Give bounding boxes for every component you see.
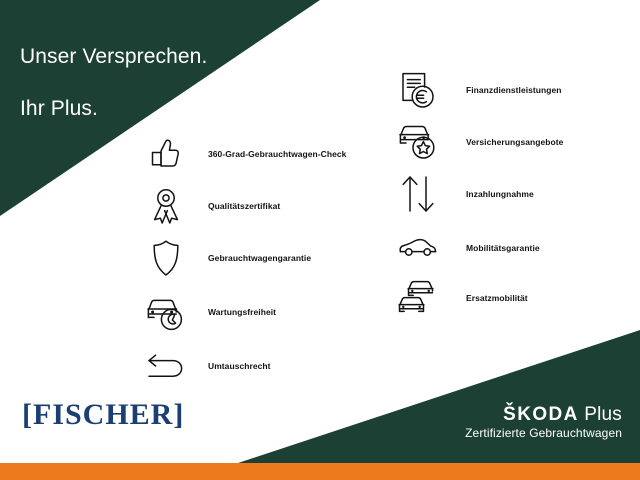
return-arrow-icon	[140, 343, 192, 389]
promo-graphic: Unser Versprechen. Ihr Plus. 360-Grad-Ge…	[0, 0, 640, 480]
feature-item: Mobilitätsgarantie	[392, 222, 632, 274]
feature-item: Inzahlungnahme	[392, 168, 632, 220]
brand-plus: Plus	[579, 404, 622, 425]
feature-item: Wartungsfreiheit	[140, 286, 380, 338]
feature-label: Umtauschrecht	[208, 361, 271, 371]
dealer-logo: [FISCHER]	[22, 400, 184, 430]
feature-item: Ersatzmobilität	[392, 272, 632, 324]
feature-label: Finanzdienstleistungen	[466, 85, 562, 95]
feature-item: Finanzdienstleistungen	[392, 64, 632, 116]
feature-item: Umtauschrecht	[140, 340, 380, 392]
thumbs-up-icon	[140, 131, 192, 177]
feature-label: 360-Grad-Gebrauchtwagen-Check	[208, 149, 346, 159]
feature-label: Mobilitätsgarantie	[466, 243, 540, 253]
brand-name-row: ŠKODA Plus	[465, 404, 622, 425]
page-title-line1: Unser Versprechen.	[20, 44, 207, 70]
up-down-arrows-icon	[392, 171, 444, 217]
feature-item: Versicherungsangebote	[392, 116, 632, 168]
car-star-icon	[392, 119, 444, 165]
feature-label: Ersatzmobilität	[466, 293, 528, 303]
car-side-icon	[392, 225, 444, 271]
orange-accent-bar	[0, 463, 640, 480]
two-cars-icon	[392, 275, 444, 321]
feature-item: Qualitätszertifikat	[140, 180, 380, 232]
document-euro-icon	[392, 67, 444, 113]
feature-label: Inzahlungnahme	[466, 189, 534, 199]
quality-seal-icon	[140, 183, 192, 229]
feature-label: Wartungsfreiheit	[208, 307, 276, 317]
feature-item: Gebrauchtwagengarantie	[140, 232, 380, 284]
brand-tagline: Zertifizierte Gebrauchtwagen	[465, 426, 622, 441]
feature-label: Qualitätszertifikat	[208, 201, 280, 211]
feature-label: Versicherungsangebote	[466, 137, 563, 147]
feature-item: 360-Grad-Gebrauchtwagen-Check	[140, 128, 380, 180]
feature-list-right: Finanzdienstleistungen Versicherungsange…	[392, 64, 632, 324]
brand-mark: ŠKODA	[503, 404, 579, 425]
feature-list-left: 360-Grad-Gebrauchtwagen-Check Qualitätsz…	[140, 128, 380, 392]
car-wrench-icon	[140, 289, 192, 335]
feature-label: Gebrauchtwagengarantie	[208, 253, 311, 263]
page-title-line2: Ihr Plus.	[20, 96, 207, 122]
brand-logo: ŠKODA Plus Zertifizierte Gebrauchtwagen	[465, 404, 622, 441]
shield-icon	[140, 235, 192, 281]
